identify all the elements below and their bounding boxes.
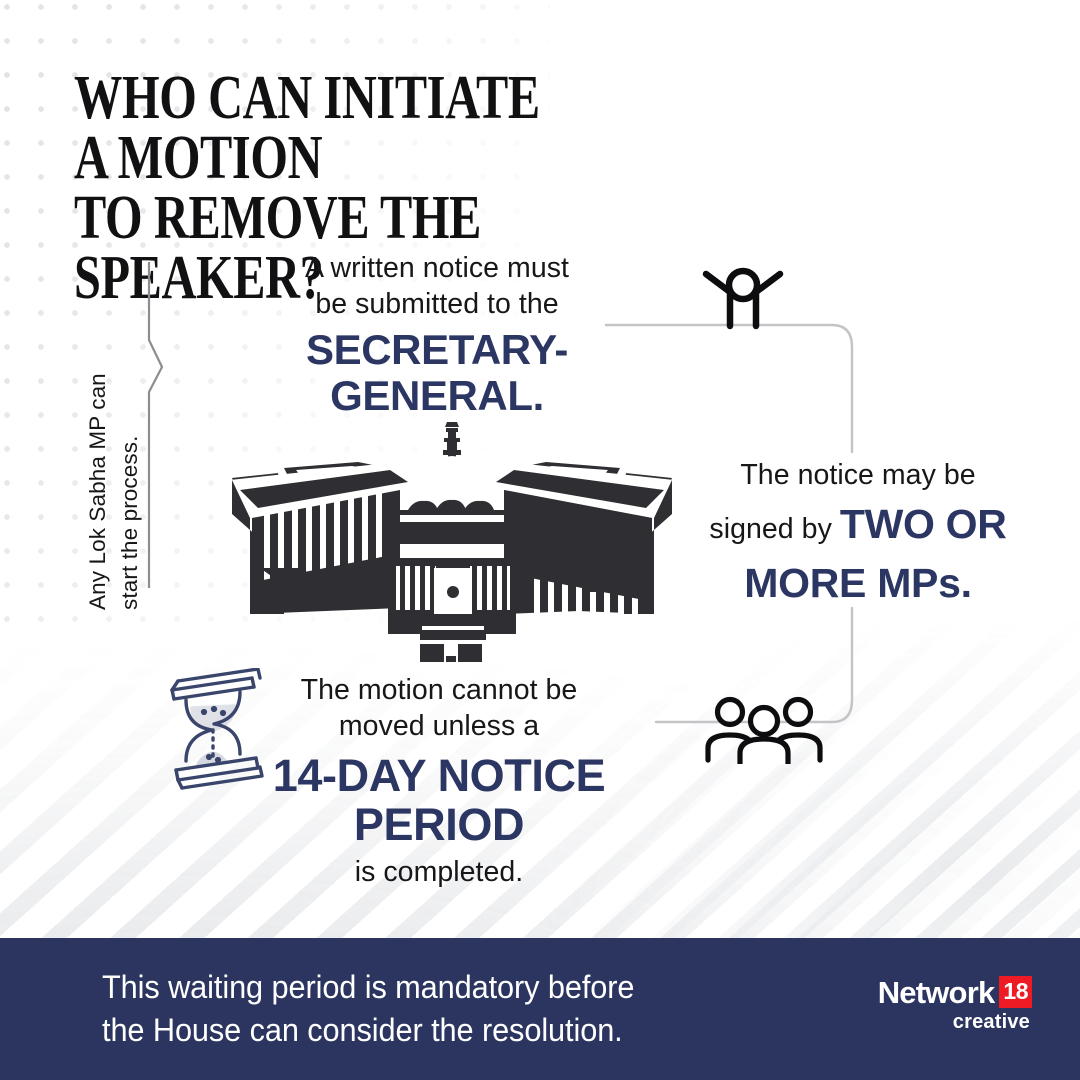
logo-main-row: Network 18 (850, 976, 1032, 1008)
hourglass-icon (156, 668, 272, 792)
mps-lead-text-2: signed by (709, 513, 839, 545)
logo-subtitle: creative (850, 1011, 1030, 1034)
step-notice-period: The motion cannot be moved unless a 14-D… (232, 672, 646, 890)
parliament-building-icon (222, 418, 682, 666)
step-two-or-more-mps: The notice may be signed by TWO OR MORE … (680, 455, 1036, 612)
side-rule-with-chevron (138, 262, 164, 588)
infographic-poster: WHO CAN INITIATE A MOTION TO REMOVE THE … (0, 0, 1080, 1080)
notice-lead-text: The motion cannot be moved unless a (232, 672, 646, 745)
side-caption: Any Lok Sabha MP can start the process. (82, 270, 146, 610)
secretary-lead-text: A written notice must be submitted to th… (262, 250, 612, 323)
footer-band: This waiting period is mandatory before … (0, 938, 1080, 1080)
logo-wordmark: Network (878, 977, 995, 1008)
mps-paragraph: The notice may be signed by TWO OR MORE … (680, 455, 1036, 612)
mps-lead-text: The notice may be (740, 459, 975, 491)
network18-creative-logo[interactable]: Network 18 creative (850, 976, 1032, 1034)
group-of-people-icon (700, 694, 828, 764)
person-raised-arms-icon (694, 266, 792, 330)
notice-highlight-text: 14-DAY NOTICE PERIOD (232, 751, 646, 850)
secretary-highlight-text: SECRETARY- GENERAL. (262, 327, 612, 419)
step-secretary-general: A written notice must be submitted to th… (262, 250, 612, 419)
notice-tail-text: is completed. (232, 854, 646, 890)
logo-18-badge: 18 (999, 976, 1032, 1008)
footer-message: This waiting period is mandatory before … (102, 966, 764, 1052)
